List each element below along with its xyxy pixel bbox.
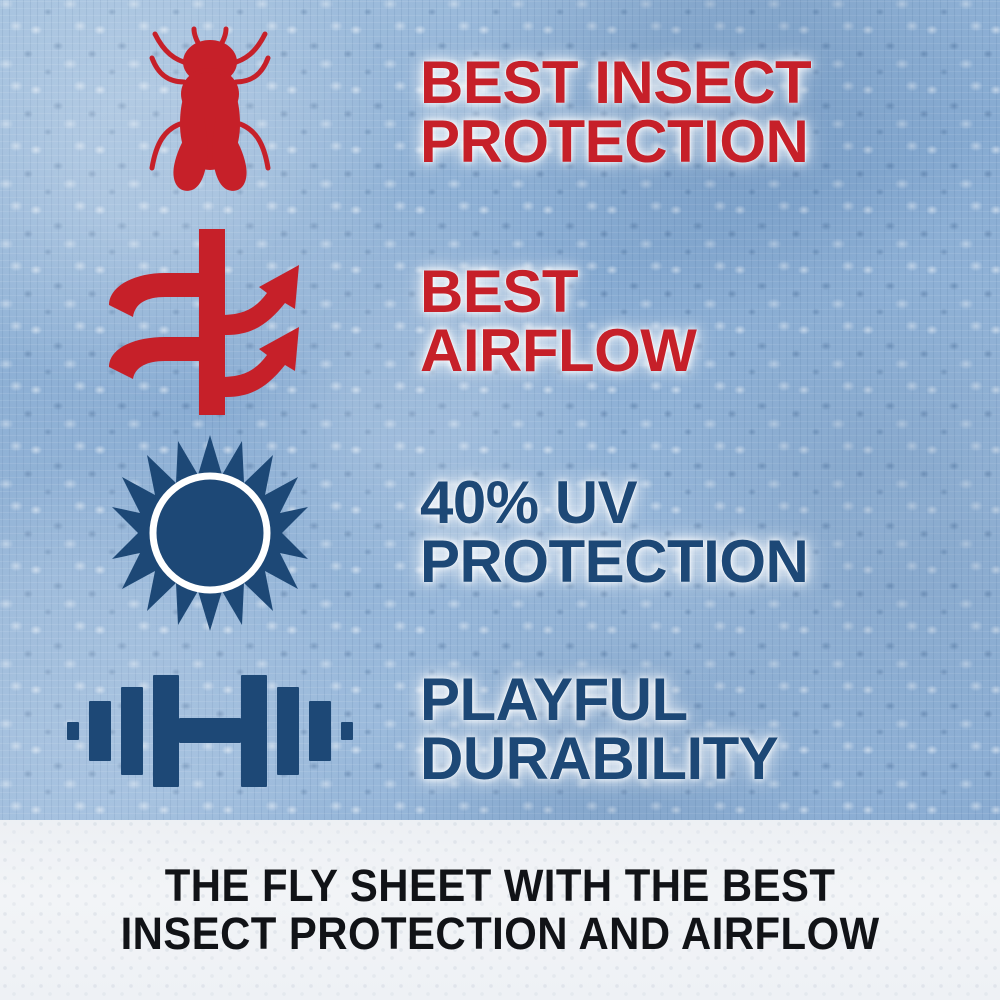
text-cell-2: BEST AIRFLOW bbox=[420, 263, 1000, 381]
text-cell-3: 40% UV PROTECTION bbox=[420, 474, 1000, 592]
caption-headline: THE FLY SHEET WITH THE BEST INSECT PROTE… bbox=[120, 862, 879, 957]
icon-cell-4 bbox=[0, 665, 420, 795]
icon-cell-1 bbox=[0, 20, 420, 205]
sun-icon bbox=[110, 433, 310, 633]
infographic-root: BEST INSECT PROTECTION bbox=[0, 0, 1000, 1000]
dumbbell-icon bbox=[65, 665, 355, 795]
fly-icon bbox=[130, 20, 290, 205]
icon-cell-2 bbox=[0, 227, 420, 417]
feature-row-uv-protection: 40% UV PROTECTION bbox=[0, 430, 1000, 635]
feature-label-insect-protection: BEST INSECT PROTECTION bbox=[420, 54, 980, 172]
airflow-icon bbox=[103, 227, 318, 417]
feature-label-airflow: BEST AIRFLOW bbox=[420, 263, 980, 381]
feature-row-airflow: BEST AIRFLOW bbox=[0, 222, 1000, 422]
feature-label-uv-protection: 40% UV PROTECTION bbox=[420, 474, 980, 592]
feature-row-insect-protection: BEST INSECT PROTECTION bbox=[0, 10, 1000, 215]
caption-band: THE FLY SHEET WITH THE BEST INSECT PROTE… bbox=[0, 820, 1000, 1000]
icon-cell-3 bbox=[0, 433, 420, 633]
feature-label-durability: PLAYFUL DURABILITY bbox=[420, 671, 980, 789]
feature-row-durability: PLAYFUL DURABILITY bbox=[0, 645, 1000, 815]
text-cell-4: PLAYFUL DURABILITY bbox=[420, 671, 1000, 789]
feature-rows: BEST INSECT PROTECTION bbox=[0, 0, 1000, 820]
text-cell-1: BEST INSECT PROTECTION bbox=[420, 54, 1000, 172]
